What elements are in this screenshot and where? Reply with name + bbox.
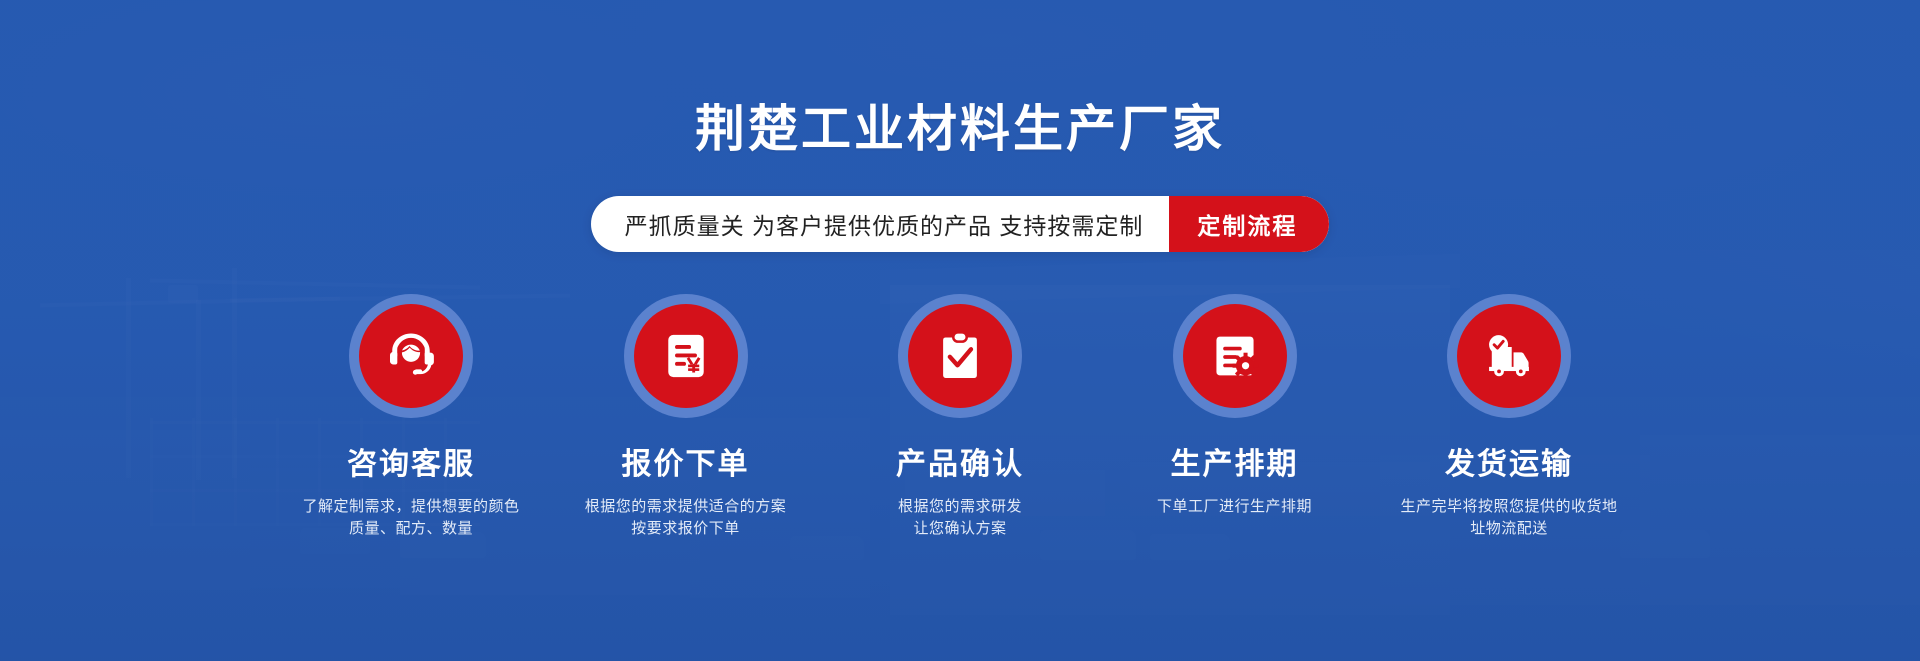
- step-icon-circle: [1183, 304, 1287, 408]
- step-icon-ring: [898, 294, 1022, 418]
- step-description: 根据您的需求研发让您确认方案: [898, 496, 1022, 540]
- promo-pill-wrap: 严抓质量关 为客户提供优质的产品 支持按需定制 定制流程: [0, 196, 1920, 252]
- step-icon-ring: [349, 294, 473, 418]
- process-step-4[interactable]: 生产排期 下单工厂进行生产排期: [1104, 294, 1366, 540]
- process-step-1[interactable]: 咨询客服 了解定制需求，提供想要的颜色质量、配方、数量: [280, 294, 542, 540]
- custom-process-button[interactable]: 定制流程: [1169, 196, 1329, 252]
- step-icon-circle: [359, 304, 463, 408]
- quote-invoice-yuan-icon: [659, 329, 713, 383]
- delivery-truck-check-icon: [1480, 327, 1538, 385]
- step-icon-ring: [624, 294, 748, 418]
- step-icon-circle: [908, 304, 1012, 408]
- step-description: 根据您的需求提供适合的方案按要求报价下单: [585, 496, 787, 540]
- step-title: 生产排期: [1171, 450, 1299, 480]
- promo-banner: 荆楚工业材料生产厂家 严抓质量关 为客户提供优质的产品 支持按需定制 定制流程: [0, 0, 1920, 661]
- step-title: 发货运输: [1445, 450, 1573, 480]
- step-icon-circle: [634, 304, 738, 408]
- step-title: 报价下单: [622, 450, 750, 480]
- process-step-5[interactable]: 发货运输 生产完毕将按照您提供的收货地址物流配送: [1378, 294, 1640, 540]
- headset-support-icon: [381, 326, 441, 386]
- step-title: 产品确认: [896, 450, 1024, 480]
- step-icon-ring: [1173, 294, 1297, 418]
- step-icon-ring: [1447, 294, 1571, 418]
- process-step-3[interactable]: 产品确认 根据您的需求研发让您确认方案: [829, 294, 1091, 540]
- promo-pill: 严抓质量关 为客户提供优质的产品 支持按需定制 定制流程: [591, 196, 1330, 252]
- document-gear-icon: [1208, 329, 1262, 383]
- process-step-2[interactable]: 报价下单 根据您的需求提供适合的方案按要求报价下单: [555, 294, 817, 540]
- clipboard-check-icon: [933, 329, 987, 383]
- step-description: 了解定制需求，提供想要的颜色质量、配方、数量: [302, 496, 519, 540]
- promo-pill-text: 严抓质量关 为客户提供优质的产品 支持按需定制: [591, 196, 1170, 252]
- step-title: 咨询客服: [347, 450, 475, 480]
- step-icon-circle: [1457, 304, 1561, 408]
- banner-headline: 荆楚工业材料生产厂家: [0, 104, 1920, 154]
- step-description: 生产完毕将按照您提供的收货地址物流配送: [1400, 496, 1617, 540]
- process-steps: 咨询客服 了解定制需求，提供想要的颜色质量、配方、数量: [280, 294, 1640, 540]
- step-description: 下单工厂进行生产排期: [1157, 496, 1312, 518]
- banner-content: 荆楚工业材料生产厂家 严抓质量关 为客户提供优质的产品 支持按需定制 定制流程: [0, 0, 1920, 661]
